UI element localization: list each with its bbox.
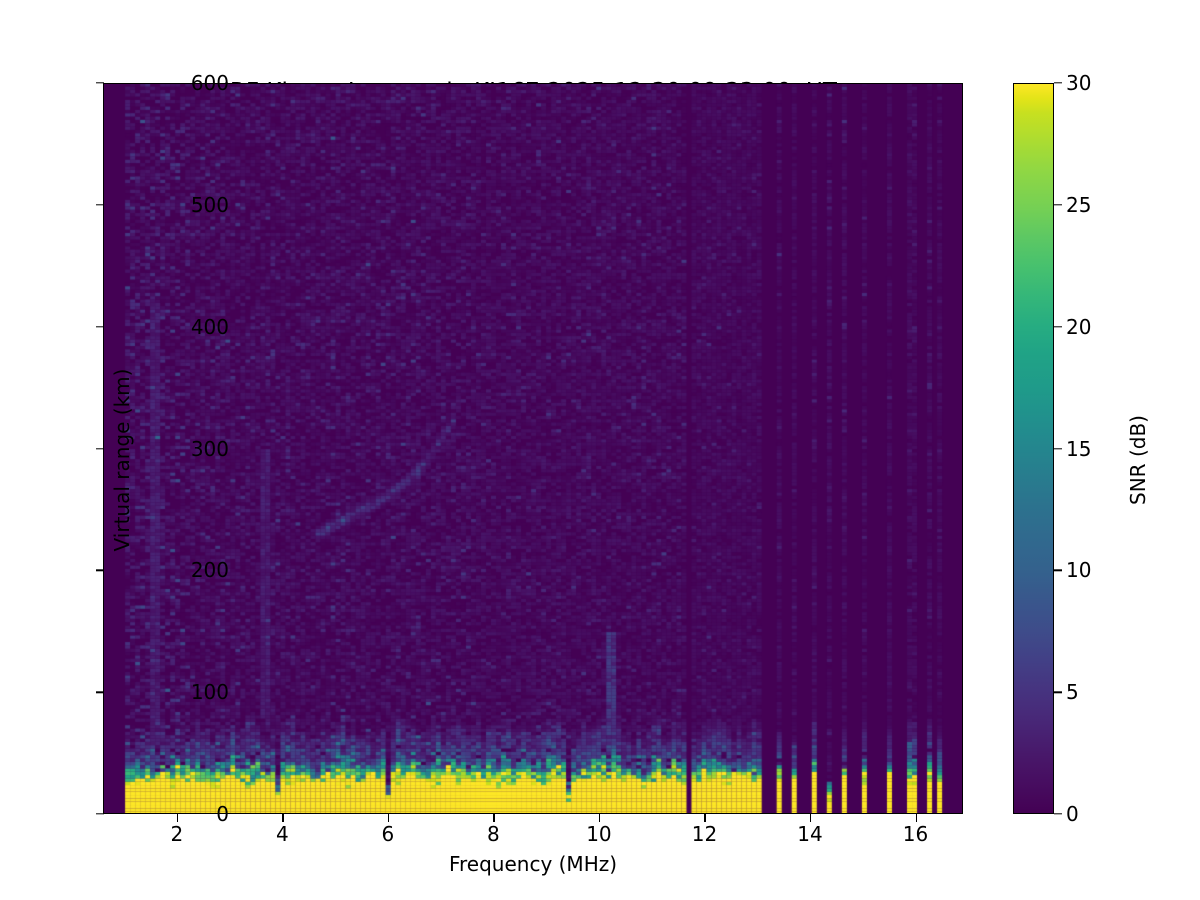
colorbar-tick-mark	[1054, 691, 1062, 692]
colorbar-label: SNR (dB)	[1126, 310, 1150, 610]
x-tick-label: 16	[856, 822, 976, 846]
x-tick-label: 14	[750, 822, 870, 846]
y-tick-mark	[96, 448, 104, 449]
x-tick-mark	[177, 814, 178, 822]
y-tick-label: 200	[109, 558, 229, 582]
y-tick-label: 300	[109, 437, 229, 461]
colorbar-tick-label: 0	[1066, 802, 1146, 826]
colorbar-tick-label: 5	[1066, 680, 1146, 704]
ionogram-plot-area[interactable]	[103, 83, 963, 814]
colorbar-gradient	[1014, 84, 1053, 813]
y-tick-mark	[96, 570, 104, 571]
colorbar-tick-mark	[1054, 326, 1062, 327]
x-tick-label: 10	[539, 822, 659, 846]
x-tick-label: 8	[433, 822, 553, 846]
x-tick-mark	[388, 814, 389, 822]
y-tick-mark	[96, 82, 104, 83]
x-tick-mark	[282, 814, 283, 822]
colorbar[interactable]	[1013, 83, 1054, 814]
y-tick-label: 500	[109, 193, 229, 217]
x-axis-label: Frequency (MHz)	[103, 852, 963, 876]
y-tick-label: 400	[109, 315, 229, 339]
colorbar-tick-label: 30	[1066, 71, 1146, 95]
x-tick-label: 6	[328, 822, 448, 846]
y-tick-label: 600	[109, 71, 229, 95]
x-tick-mark	[599, 814, 600, 822]
x-tick-label: 12	[644, 822, 764, 846]
y-tick-mark	[96, 813, 104, 814]
colorbar-tick-mark	[1054, 448, 1062, 449]
ionogram-figure: IRF Kiruna Ionosonde KI167 2025-12-30 09…	[0, 0, 1200, 900]
colorbar-tick-label: 25	[1066, 193, 1146, 217]
x-tick-mark	[916, 814, 917, 822]
x-tick-mark	[704, 814, 705, 822]
y-tick-mark	[96, 691, 104, 692]
colorbar-tick-mark	[1054, 204, 1062, 205]
x-tick-label: 2	[117, 822, 237, 846]
colorbar-tick-mark	[1054, 82, 1062, 83]
ionogram-heatmap	[104, 84, 963, 814]
x-tick-label: 4	[222, 822, 342, 846]
y-tick-mark	[96, 326, 104, 327]
x-tick-mark	[810, 814, 811, 822]
y-tick-mark	[96, 204, 104, 205]
y-tick-label: 100	[109, 680, 229, 704]
colorbar-tick-mark	[1054, 813, 1062, 814]
x-tick-mark	[493, 814, 494, 822]
colorbar-tick-mark	[1054, 570, 1062, 571]
